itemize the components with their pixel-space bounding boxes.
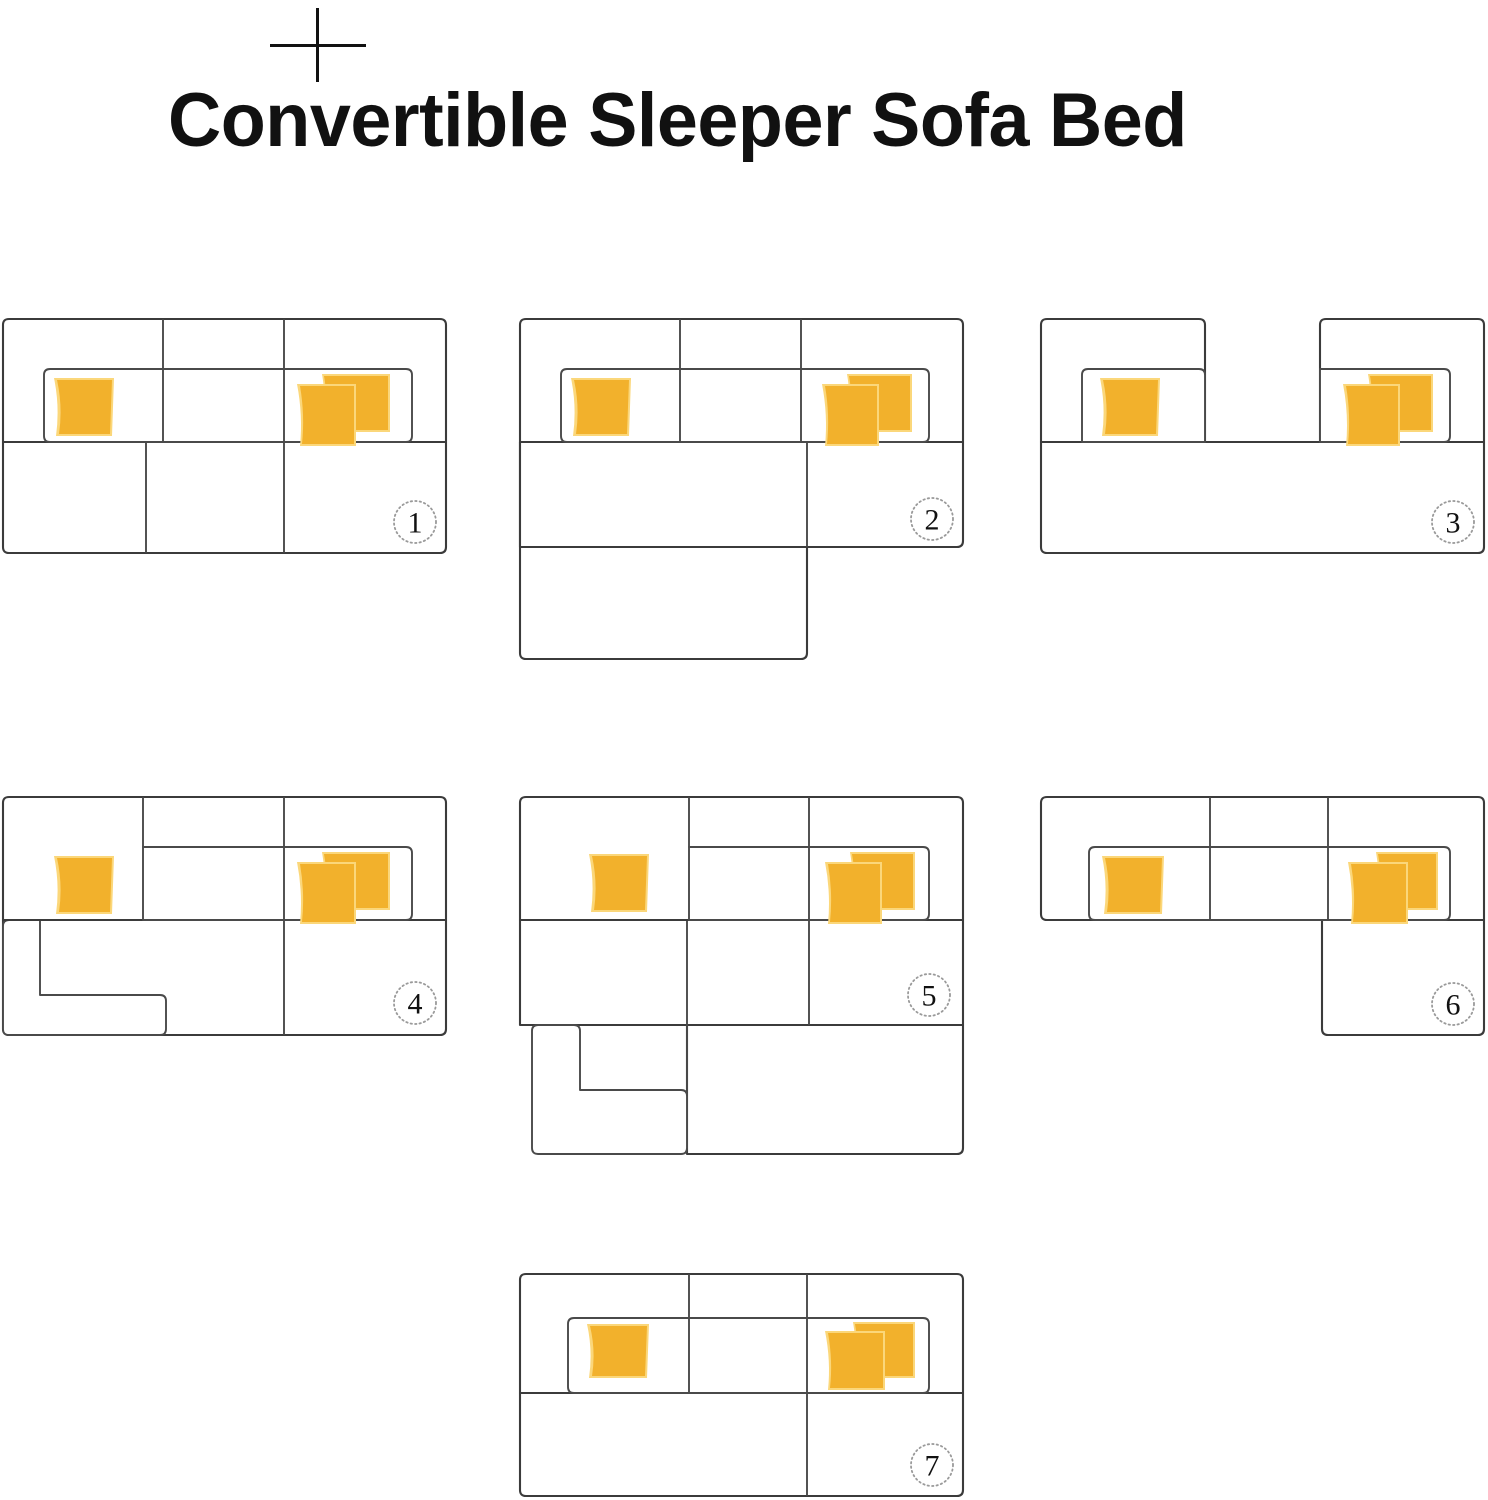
- diagram-config-3: 3: [1038, 312, 1488, 562]
- single-pillow: [54, 856, 114, 914]
- diagram-config-7: 7: [517, 1268, 967, 1500]
- config-number-text: 4: [408, 988, 423, 1021]
- config-number-text: 6: [1446, 989, 1461, 1022]
- diagram-config-6: 6: [1038, 790, 1488, 1050]
- crosshair-vertical-bar: [316, 8, 319, 82]
- sofa-configuration-sheet: Convertible Sleeper Sofa Bed: [0, 0, 1488, 1500]
- config-number-text: 3: [1446, 507, 1461, 540]
- single-pillow: [587, 1324, 649, 1378]
- config-number-text: 7: [925, 1450, 940, 1483]
- diagram-config-2: 2: [517, 312, 967, 662]
- page-title: Convertible Sleeper Sofa Bed: [168, 78, 1187, 164]
- diagram-config-1: 1: [0, 312, 450, 562]
- single-pillow: [1102, 856, 1164, 914]
- config-number-text: 5: [922, 980, 937, 1013]
- single-pillow: [571, 378, 631, 436]
- single-pillow: [1100, 378, 1160, 436]
- crosshair-mark: [270, 8, 366, 82]
- single-pillow: [589, 854, 649, 912]
- diagram-config-5: 5: [517, 790, 967, 1165]
- config-number-text: 2: [925, 504, 940, 537]
- single-pillow: [54, 378, 114, 436]
- diagram-config-4: 4: [0, 790, 450, 1050]
- config-number-text: 1: [408, 507, 423, 540]
